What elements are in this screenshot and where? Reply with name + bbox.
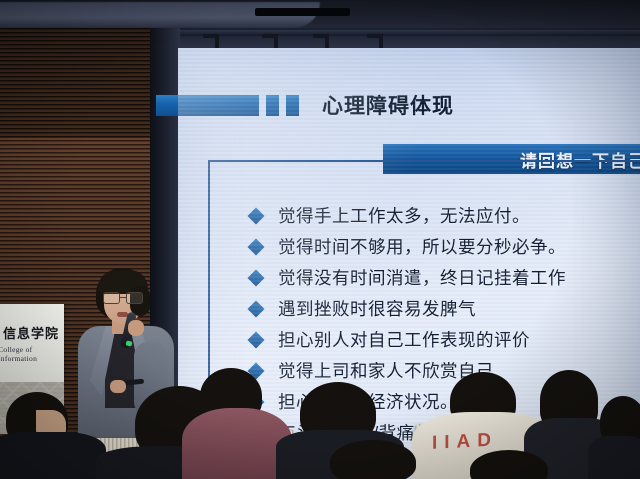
audience-front-head-2 <box>470 450 548 479</box>
audience-member-far-right-body <box>588 436 640 479</box>
title-square-decoration <box>266 95 279 116</box>
list-item-label: 担心别人对自己工作表现的评价 <box>278 327 530 352</box>
list-item: 担心别人对自己工作表现的评价 <box>250 324 640 355</box>
title-bar-decoration <box>156 95 259 116</box>
list-item: 遇到挫败时很容易发脾气 <box>250 293 640 324</box>
presenter-hand <box>128 320 144 336</box>
wall-sign: 信息学院 College of Information <box>0 304 64 382</box>
slide-title: 心理障碍体现 <box>322 90 454 120</box>
slide-title-row: 心理障碍体现 <box>178 88 640 122</box>
wall-sign-english: College of Information <box>0 345 64 363</box>
hair <box>470 450 548 479</box>
title-square-decoration <box>286 95 299 116</box>
wall-sign-chinese: 信息学院 <box>3 323 59 342</box>
list-item-label: 觉得时间不够用，所以要分秒必争。 <box>278 234 566 259</box>
presenter-hand-lower <box>110 380 126 393</box>
light-rail <box>180 30 640 36</box>
wood-slat-wall-upper <box>0 28 175 138</box>
diamond-bullet-icon <box>248 269 265 286</box>
list-item-label: 觉得没有时间消遣，终日记挂着工作 <box>278 265 566 290</box>
diamond-bullet-icon <box>248 300 265 317</box>
list-item: 觉得时间不够用，所以要分秒必争。 <box>250 231 640 262</box>
list-item-label: 觉得手上工作太多，无法应付。 <box>278 203 530 228</box>
audience-front-head <box>330 440 416 479</box>
glasses-icon <box>103 292 143 304</box>
diamond-bullet-icon <box>248 238 265 255</box>
list-item-label: 遇到挫败时很容易发脾气 <box>278 296 476 321</box>
list-item: 觉得没有时间消遣，终日记挂着工作 <box>250 262 640 293</box>
list-item: 觉得手上工作太多，无法应付。 <box>250 200 640 231</box>
ceiling-slot <box>255 8 350 16</box>
hair <box>330 440 416 479</box>
audience-member-left-body <box>0 432 106 479</box>
diamond-bullet-icon <box>248 207 265 224</box>
lecture-hall-photo: 心理障碍体现 请回想一下自己 觉得手上工作太多，无法应付。 觉得时间不够用，所以… <box>0 0 640 479</box>
diamond-bullet-icon <box>248 331 265 348</box>
